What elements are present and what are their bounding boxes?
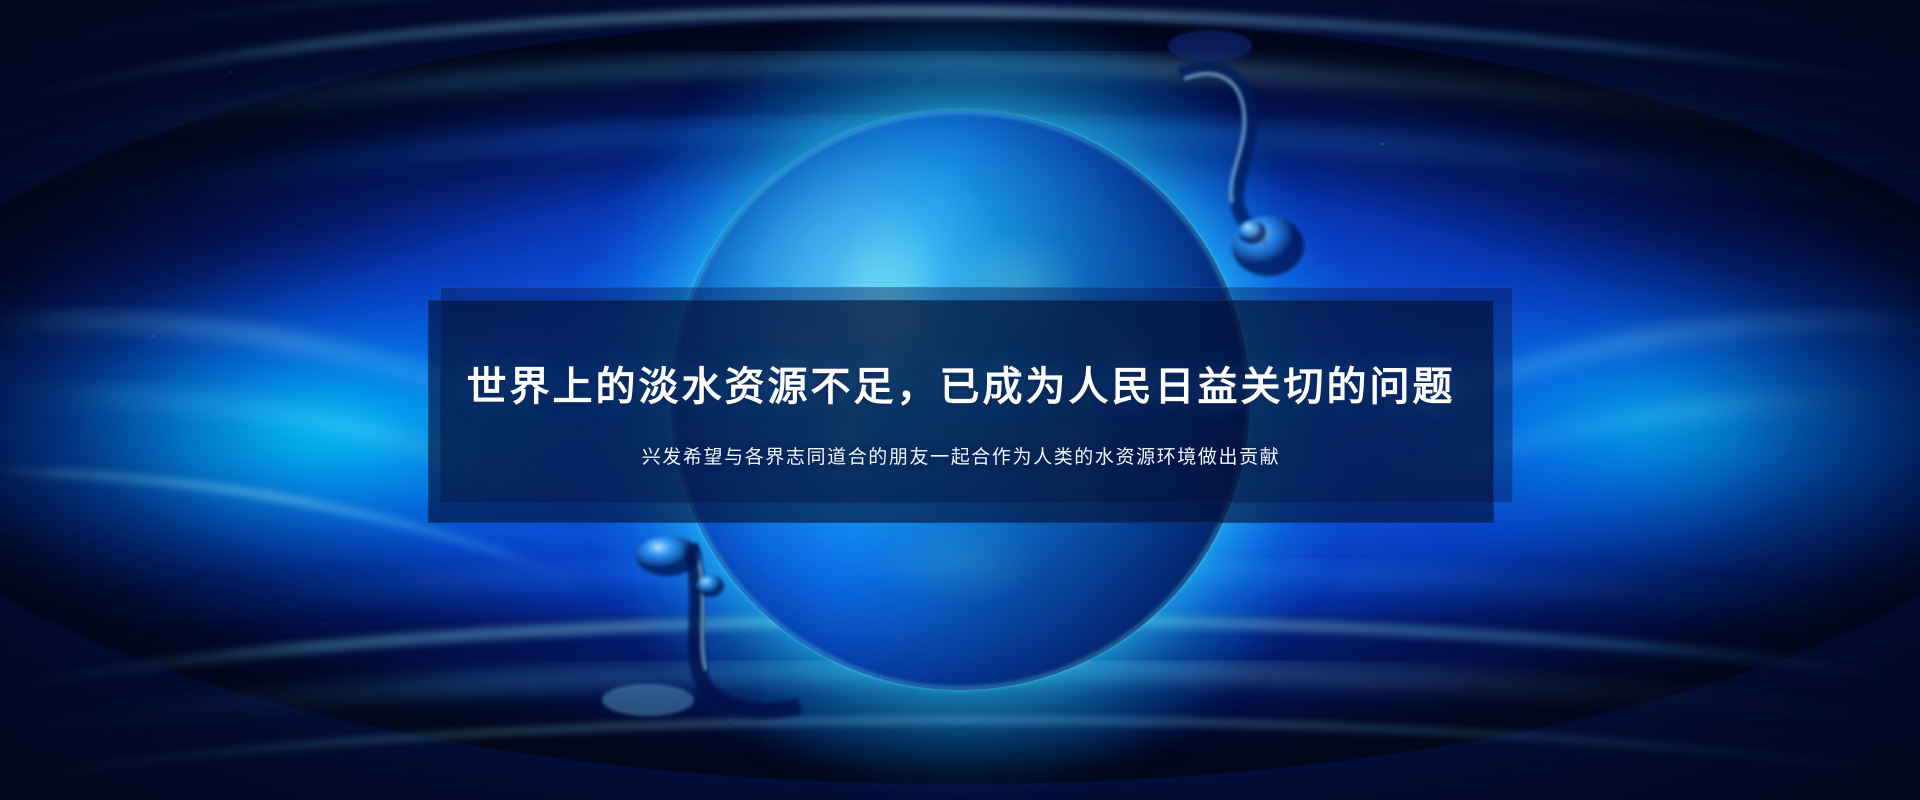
banner-subheadline: 兴发希望与各界志同道合的朋友一起合作为人类的水资源环境做出贡献 xyxy=(642,442,1281,469)
banner-text-block: 世界上的淡水资源不足，已成为人民日益关切的问题 兴发希望与各界志同道合的朋友一起… xyxy=(428,300,1494,523)
banner-headline: 世界上的淡水资源不足，已成为人民日益关切的问题 xyxy=(467,354,1456,412)
hero-banner: 世界上的淡水资源不足，已成为人民日益关切的问题 兴发希望与各界志同道合的朋友一起… xyxy=(0,0,1920,800)
